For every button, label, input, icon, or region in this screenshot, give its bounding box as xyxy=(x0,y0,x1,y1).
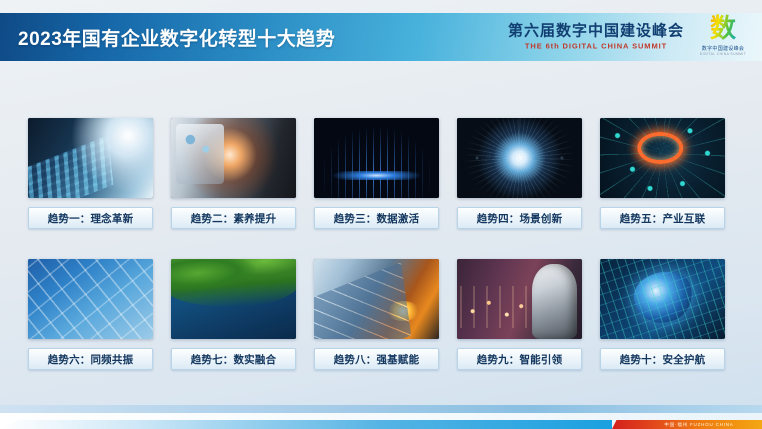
trend-thumbnail xyxy=(171,259,296,339)
page-header: 2023年国有企业数字化转型十大趋势 第六届数字中国建设峰会 THE 6th D… xyxy=(0,13,762,61)
trend-card[interactable]: 趋势五：产业互联 xyxy=(600,118,725,229)
trend-thumbnail xyxy=(171,118,296,198)
trend-label-text: 趋势十：安全护航 xyxy=(620,352,706,367)
trend-label-text: 趋势六：同频共振 xyxy=(48,352,134,367)
trend-card[interactable]: 趋势九：智能引领 xyxy=(457,259,582,370)
summit-name-cn: 第六届数字中国建设峰会 xyxy=(508,24,684,39)
logo-calligraphy-glyph: 数 xyxy=(692,14,754,44)
trend-label: 趋势二：素养提升 xyxy=(171,207,296,229)
summit-name-en: THE 6th DIGITAL CHINA SUMMIT xyxy=(508,42,684,50)
trend-label-text: 趋势七：数实融合 xyxy=(191,352,277,367)
page-footer: 中国·福州 FUZHOU CHINA xyxy=(0,405,762,429)
trend-label: 趋势九：智能引领 xyxy=(457,348,582,370)
trend-label: 趋势四：场景创新 xyxy=(457,207,582,229)
trend-label: 趋势七：数实融合 xyxy=(171,348,296,370)
trend-label-text: 趋势九：智能引领 xyxy=(477,352,563,367)
trend-label-text: 趋势四：场景创新 xyxy=(477,211,563,226)
trend-card[interactable]: 趋势一：理念革新 xyxy=(28,118,153,229)
page-title: 2023年国有企业数字化转型十大趋势 xyxy=(18,24,335,51)
trend-thumbnail xyxy=(600,118,725,198)
trend-thumbnail xyxy=(314,259,439,339)
trend-label-text: 趋势八：强基赋能 xyxy=(334,352,420,367)
trend-card[interactable]: 趋势三：数据激活 xyxy=(314,118,439,229)
footer-accent-bar: 中国·福州 FUZHOU CHINA xyxy=(612,420,762,429)
trend-thumbnail xyxy=(28,118,153,198)
logo-subtitle-cn: 数字中国建设峰会 xyxy=(692,45,754,52)
trend-label-text: 趋势五：产业互联 xyxy=(620,211,706,226)
footer-blue-bar xyxy=(0,420,612,429)
trend-card[interactable]: 趋势四：场景创新 xyxy=(457,118,582,229)
trend-label: 趋势八：强基赋能 xyxy=(314,348,439,370)
trend-label: 趋势十：安全护航 xyxy=(600,348,725,370)
footer-location-text: 中国·福州 FUZHOU CHINA xyxy=(664,422,733,428)
trend-thumbnail xyxy=(457,259,582,339)
trend-card[interactable]: 趋势十：安全护航 xyxy=(600,259,725,370)
trend-card-grid: 趋势一：理念革新 趋势二：素养提升 趋势三：数据激活 趋势四：场景创新 趋势五：… xyxy=(28,118,734,370)
trend-thumbnail xyxy=(600,259,725,339)
logo-subtitle-en: DIGITAL CHINA SUMMIT xyxy=(692,52,754,56)
trend-label: 趋势五：产业互联 xyxy=(600,207,725,229)
trend-row-2: 趋势六：同频共振 趋势七：数实融合 趋势八：强基赋能 趋势九：智能引领 趋势十：… xyxy=(28,259,734,370)
trend-label: 趋势三：数据激活 xyxy=(314,207,439,229)
trend-label-text: 趋势一：理念革新 xyxy=(48,211,134,226)
trend-card[interactable]: 趋势二：素养提升 xyxy=(171,118,296,229)
trend-card[interactable]: 趋势七：数实融合 xyxy=(171,259,296,370)
trend-thumbnail xyxy=(457,118,582,198)
trend-thumbnail xyxy=(28,259,153,339)
trend-label-text: 趋势三：数据激活 xyxy=(334,211,420,226)
trend-card[interactable]: 趋势八：强基赋能 xyxy=(314,259,439,370)
trend-label-text: 趋势二：素养提升 xyxy=(191,211,277,226)
trend-thumbnail xyxy=(314,118,439,198)
trend-row-1: 趋势一：理念革新 趋势二：素养提升 趋势三：数据激活 趋势四：场景创新 趋势五：… xyxy=(28,118,734,229)
trend-label: 趋势六：同频共振 xyxy=(28,348,153,370)
summit-logo-icon: 数 数字中国建设峰会 DIGITAL CHINA SUMMIT xyxy=(692,14,754,60)
summit-brand: 第六届数字中国建设峰会 THE 6th DIGITAL CHINA SUMMIT xyxy=(508,24,684,50)
trend-label: 趋势一：理念革新 xyxy=(28,207,153,229)
trend-card[interactable]: 趋势六：同频共振 xyxy=(28,259,153,370)
